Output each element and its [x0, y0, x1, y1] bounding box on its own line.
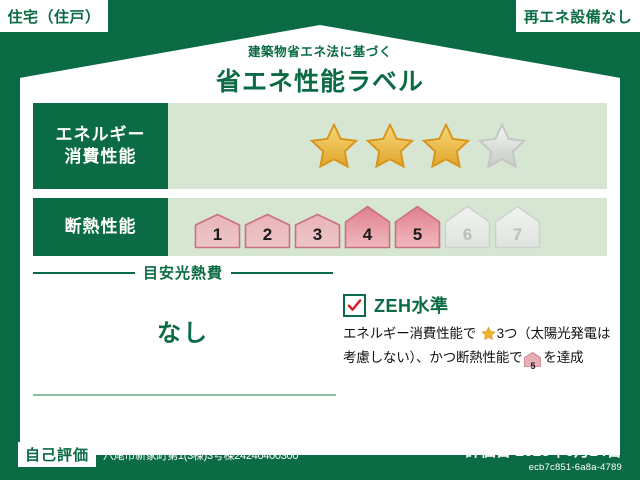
badge-building-type: 住宅（住戸）: [0, 0, 108, 32]
star-icon-filled: [308, 120, 360, 172]
rule-left: [33, 272, 135, 274]
insulation-grade-3: 3: [294, 213, 341, 249]
insulation-grade-inline-icon: 5: [524, 352, 541, 374]
star-icon-filled: [420, 120, 472, 172]
insulation-grade-number: 3: [294, 225, 341, 245]
badge-renewable-energy: 再エネ設備なし: [516, 0, 640, 32]
zeh-desc-part3: を達成: [543, 350, 583, 365]
insulation-grade-number: 5: [394, 225, 441, 245]
star-icon-empty: [476, 120, 528, 172]
utility-cost-value: なし: [33, 313, 333, 348]
insulation-grade-number: 2: [244, 225, 291, 245]
insulation-grade-7: 7: [494, 205, 541, 249]
zeh-title: ZEH水準: [374, 292, 449, 318]
row-energy-label: エネルギー 消費性能: [33, 103, 168, 189]
utility-cost-heading: 目安光熱費: [33, 262, 333, 283]
title-block: 建築物省エネ法に基づく 省エネ性能ラベル: [0, 41, 640, 98]
row-insulation-body: 1234567: [168, 198, 607, 256]
insulation-grade-number: 7: [494, 225, 541, 245]
star-icon: [477, 329, 496, 344]
evaluation-id: ecb7c851-6a8a-4789: [465, 462, 622, 473]
insulation-grade-6: 6: [444, 205, 491, 249]
insulation-grade-number: 1: [194, 225, 241, 245]
row-insulation-performance: 断熱性能 1234567: [33, 198, 607, 256]
zeh-description: エネルギー消費性能で 3つ（太陽光発電は考慮しない）、かつ断熱性能で 5 を達成: [343, 324, 611, 374]
zeh-block: ZEH水準 エネルギー消費性能で 3つ（太陽光発電は考慮しない）、かつ断熱性能で…: [343, 292, 611, 374]
row-insulation-label-text: 断熱性能: [65, 216, 137, 238]
row-energy-body: [168, 103, 607, 189]
footer-right: 評価日 2025年5月14日 ecb7c851-6a8a-4789: [465, 436, 640, 473]
insulation-grade-inline-number: 5: [524, 360, 541, 374]
evaluation-date: 評価日 2025年5月14日: [465, 440, 622, 461]
row-energy-label-line2: 消費性能: [65, 146, 137, 168]
footer-divider: [20, 429, 620, 431]
footer: 自己評価 八尾市新家町第1(3棟)3号棟24240400300 評価日 2025…: [0, 436, 640, 480]
star-icon-filled: [364, 120, 416, 172]
title-subtitle: 建築物省エネ法に基づく: [0, 41, 640, 60]
utility-cost-block: 目安光熱費 なし: [33, 262, 333, 348]
insulation-grade-number: 4: [344, 225, 391, 245]
insulation-grade-4: 4: [344, 205, 391, 249]
checkmark-icon: [343, 294, 366, 317]
star-rating: [308, 120, 528, 172]
insulation-grade-number: 6: [444, 225, 491, 245]
rule-right: [231, 272, 333, 274]
insulation-grade-5: 5: [394, 205, 441, 249]
insulation-grade-2: 2: [244, 213, 291, 249]
utility-cost-underline: [33, 394, 336, 396]
badge-renewable-energy-label: 再エネ設備なし: [524, 6, 633, 27]
page-title: 省エネ性能ラベル: [0, 62, 640, 98]
row-energy-label-line1: エネルギー: [56, 124, 146, 146]
self-evaluation-badge: 自己評価: [18, 442, 96, 467]
insulation-grade-scale: 1234567: [194, 205, 541, 249]
row-energy-performance: エネルギー 消費性能: [33, 103, 607, 189]
property-address: 八尾市新家町第1(3棟)3号棟24240400300: [103, 447, 298, 463]
utility-cost-title: 目安光熱費: [143, 262, 223, 283]
badge-building-type-label: 住宅（住戸）: [7, 6, 100, 27]
footer-left: 自己評価 八尾市新家町第1(3棟)3号棟24240400300: [0, 436, 298, 467]
zeh-desc-part1: エネルギー消費性能で: [343, 326, 476, 341]
insulation-grade-1: 1: [194, 213, 241, 249]
row-insulation-label: 断熱性能: [33, 198, 168, 256]
energy-performance-label: 住宅（住戸） 再エネ設備なし 建築物省エネ法に基づく 省エネ性能ラベル エネルギ…: [0, 0, 640, 480]
zeh-heading: ZEH水準: [343, 292, 611, 318]
